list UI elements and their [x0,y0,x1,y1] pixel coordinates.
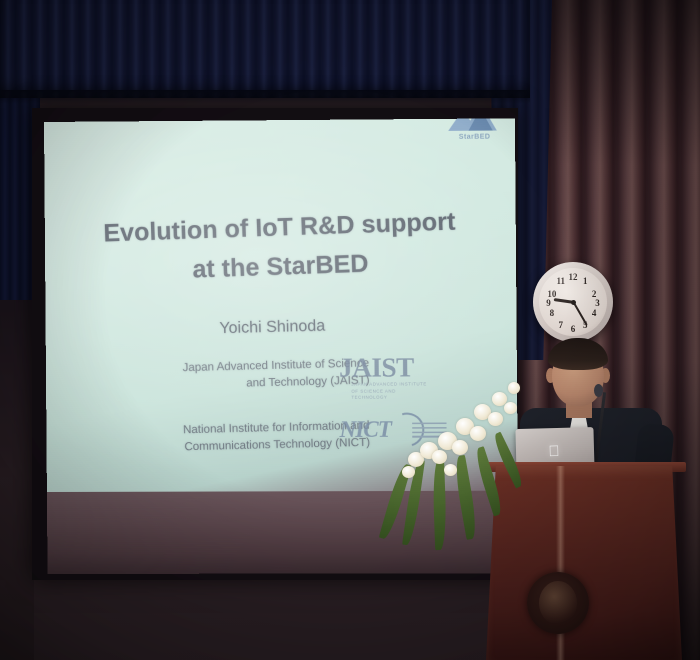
orchid-arrangement [398,378,538,558]
left-wall-column [0,300,34,660]
starbed-mark-icon [446,118,499,133]
top-valance-curtain [0,0,530,98]
gooseneck-microphone [594,384,603,397]
conference-photo: StarBED Evolution of IoT R&D support at … [0,0,700,660]
flower-petal [402,466,415,478]
slide-title: Evolution of IoT R&D support at the Star… [74,201,487,293]
clock-numeral: 3 [590,298,604,308]
speaker-hair [548,338,608,370]
lectern-crest-emblem [527,572,589,634]
clock-numeral: 1 [578,276,592,286]
clock-center-pin [571,300,576,305]
flower-petal [488,412,503,426]
clock-numeral: 8 [545,308,559,318]
apple-logo-icon:  [547,444,561,460]
clock-numeral: 11 [554,276,568,286]
starbed-wordmark: StarBED [440,133,509,141]
flower-leaf [491,432,526,489]
clock-face: 12 1 2 3 4 5 6 7 8 9 10 11 [539,268,607,336]
clock-numeral: 7 [554,320,568,330]
starbed-logo: StarBED [436,118,513,155]
clock-numeral: 4 [587,308,601,318]
flower-petal [470,426,486,441]
affiliation-nict: National Institute for Information and C… [68,418,370,460]
slide-author: Yoichi Shinoda [75,314,470,342]
flower-petal [508,382,520,394]
wall-clock: 12 1 2 3 4 5 6 7 8 9 10 11 [533,262,613,342]
affiliation-jaist: Japan Advanced Institute of Science and … [68,355,370,397]
nict-wordmark: NICT [339,417,391,443]
flower-petal [444,464,457,476]
clock-numeral: 6 [566,324,580,334]
flower-petal [432,450,447,464]
flower-petal [452,440,468,455]
flower-petal [504,402,517,414]
